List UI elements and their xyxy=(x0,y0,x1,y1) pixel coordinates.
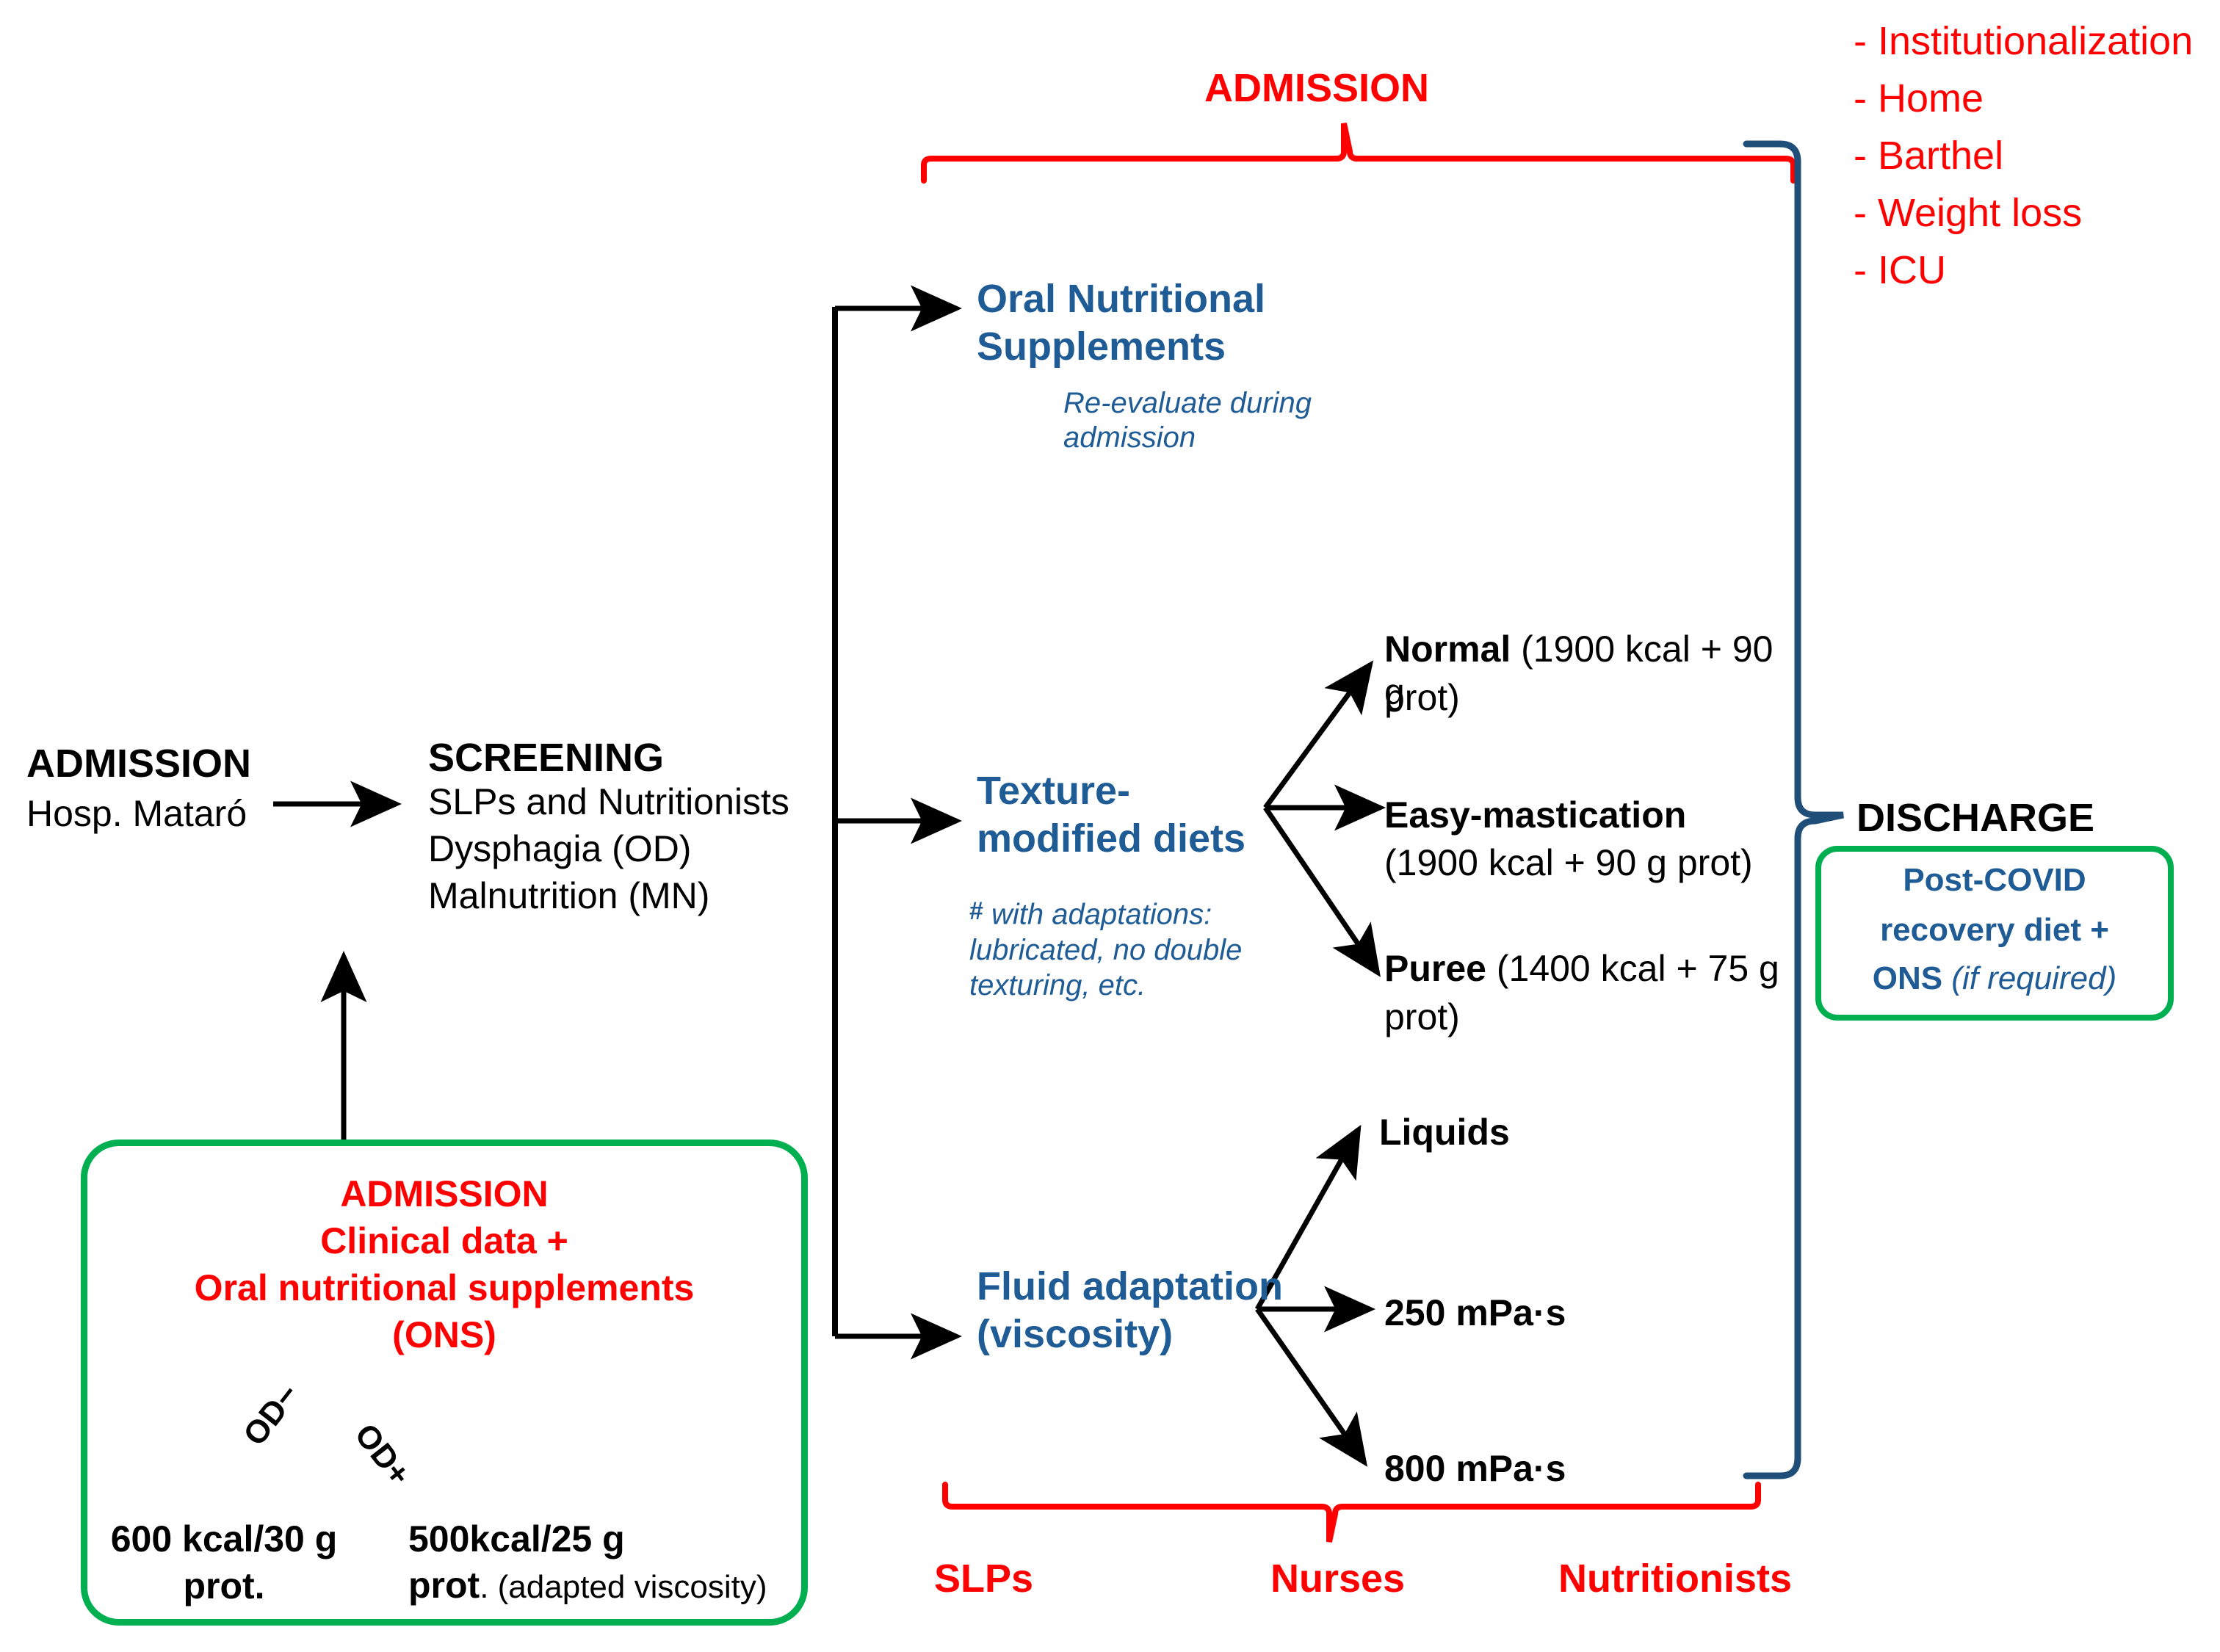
arrow-diet-normal xyxy=(1265,664,1370,808)
discharge-box-line2: recovery diet + xyxy=(1815,910,2174,950)
screening-title: SCREENING xyxy=(428,734,664,783)
discharge-box-line1: Post-COVID xyxy=(1815,861,2174,900)
viscosity-250: 250 mPa·s xyxy=(1384,1291,1566,1336)
ons-note-line2: admission xyxy=(1063,420,1196,456)
fluid-title-line2: (viscosity) xyxy=(977,1311,1173,1359)
admission-brace-top xyxy=(924,123,1793,181)
diet-normal-detail2: prot) xyxy=(1384,675,1460,720)
texture-title-line1: Texture- xyxy=(977,767,1130,816)
role-label-slps: SLPs xyxy=(934,1555,1033,1604)
outcome-item-2: - Barthel xyxy=(1854,132,2003,181)
outcome-item-4: - ICU xyxy=(1854,247,1946,295)
screening-line-2: Malnutrition (MN) xyxy=(428,874,709,919)
ons-title-line2: Supplements xyxy=(977,323,1226,372)
ons-dose-od-negative-line1: 600 kcal/30 g xyxy=(103,1517,345,1562)
diet-puree-detail2: prot) xyxy=(1384,995,1460,1040)
fluid-title-line1: Fluid adaptation xyxy=(977,1263,1283,1311)
roles-brace-bottom xyxy=(945,1485,1758,1542)
outcome-item-3: - Weight loss xyxy=(1854,189,2082,238)
discharge-brace-right xyxy=(1746,144,1843,1476)
diet-normal-name: Normal xyxy=(1384,628,1511,670)
role-label-nutritionists: Nutritionists xyxy=(1558,1555,1792,1604)
texture-note-line3: texturing, etc. xyxy=(969,968,1146,1004)
ons-dose-od-positive-note: . (adapted viscosity) xyxy=(480,1569,767,1605)
screening-line-0: SLPs and Nutritionists xyxy=(428,780,789,825)
arrow-diet-puree xyxy=(1265,808,1378,973)
discharge-ons-note: (if required) xyxy=(1951,960,2116,996)
texture-note-line1: # with adaptations: xyxy=(969,897,1212,931)
viscosity-liquids: Liquids xyxy=(1379,1110,1510,1155)
role-label-nurses: Nurses xyxy=(1270,1555,1405,1604)
diet-puree-detail1: (1400 kcal + 75 g xyxy=(1486,948,1779,989)
texture-note-line2: lubricated, no double xyxy=(969,932,1242,968)
outcome-item-1: - Home xyxy=(1854,75,1984,123)
ons-note-line1: Re-evaluate during xyxy=(1063,385,1312,421)
flowchart-canvas: ADMISSION Hosp. Mataró SCREENING SLPs an… xyxy=(0,0,2220,1652)
diet-easy-name: Easy-mastication xyxy=(1384,793,1686,838)
diet-puree-name: Puree xyxy=(1384,948,1486,989)
diet-option-puree: Puree (1400 kcal + 75 g xyxy=(1384,947,1796,990)
admission-box-line1: ADMISSION xyxy=(81,1172,808,1217)
outcome-item-0: - Institutionalization xyxy=(1854,18,2193,66)
admission-subtitle: Hosp. Mataró xyxy=(26,791,247,836)
discharge-box-line3: ONS (if required) xyxy=(1815,960,2174,997)
diet-easy-detail1: (1900 kcal + 90 g prot) xyxy=(1384,841,1753,885)
ons-title-line1: Oral Nutritional xyxy=(977,275,1265,324)
admission-box-line2: Clinical data + xyxy=(81,1219,808,1264)
arrow-viscosity-800 xyxy=(1257,1309,1364,1463)
admission-box-line3: Oral nutritional supplements xyxy=(81,1266,808,1311)
ons-dose-od-positive-line1: 500kcal/25 g xyxy=(408,1517,625,1562)
screening-line-1: Dysphagia (OD) xyxy=(428,827,691,872)
texture-note-text1: with adaptations: xyxy=(983,898,1212,930)
ons-dose-od-positive-prot: prot xyxy=(408,1565,480,1606)
texture-title-line2: modified diets xyxy=(977,815,1245,863)
discharge-ons-label: ONS xyxy=(1873,960,1952,996)
ons-dose-od-negative-line2: prot. xyxy=(103,1564,345,1609)
admission-title: ADMISSION xyxy=(26,740,251,789)
ons-dose-od-positive-line2: prot. (adapted viscosity) xyxy=(408,1564,767,1606)
admission-box-line4: (ONS) xyxy=(81,1313,808,1358)
viscosity-800: 800 mPa·s xyxy=(1384,1446,1566,1491)
discharge-title: DISCHARGE xyxy=(1856,794,2094,843)
texture-note-marker: # xyxy=(969,897,983,925)
admission-brace-label: ADMISSION xyxy=(1204,65,1429,113)
